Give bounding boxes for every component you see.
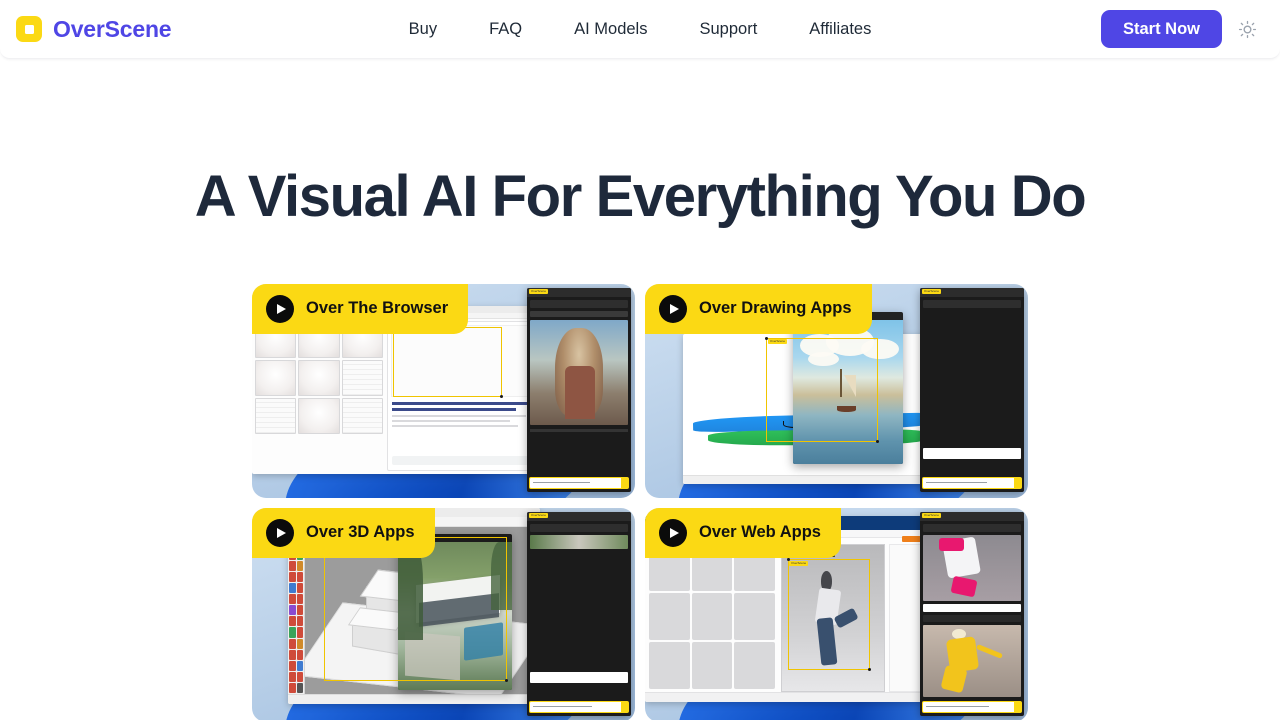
card-badge-label: Over 3D Apps [306,523,415,542]
animation-thumbnails-grid [649,544,775,689]
nav-item-buy[interactable]: Buy [383,21,463,38]
nav-item-ai-models[interactable]: AI Models [548,21,673,38]
demo-video-grid: OverScene OverScene [252,284,1028,720]
card-badge[interactable]: Over Web Apps [645,508,841,558]
sun-icon [1238,20,1257,39]
play-icon [659,295,687,323]
prompt-input[interactable] [529,701,629,713]
prompt-input[interactable] [922,701,1022,713]
nav-item-support[interactable]: Support [673,21,783,38]
generated-image [530,320,628,425]
card-badge-label: Over Web Apps [699,523,821,542]
rounded-square-logo-icon [16,16,42,42]
generated-image [923,535,1021,601]
page-title: A Visual AI For Everything You Do [0,167,1280,228]
card-badge-label: Over The Browser [306,299,448,318]
prompt-input[interactable] [922,477,1022,489]
preview-stage: OverScene [781,544,885,692]
brand-name: OverScene [53,16,171,43]
demo-card-over-the-browser[interactable]: OverScene OverScene [252,284,635,498]
image-results-grid [255,322,383,434]
site-header: OverScene Buy FAQ AI Models Support Affi… [0,0,1280,59]
play-icon [266,519,294,547]
theme-toggle-button[interactable] [1232,14,1262,44]
card-badge[interactable]: Over Drawing Apps [645,284,872,334]
overscene-panel: OverScene [527,512,631,716]
main-navigation: Buy FAQ AI Models Support Affiliates [0,21,1280,38]
demo-card-over-web-apps[interactable]: OverScene OverScene [645,508,1028,720]
start-now-button[interactable]: Start Now [1101,10,1222,49]
play-icon [266,295,294,323]
overscene-panel: OverScene [527,288,631,492]
card-badge-label: Over Drawing Apps [699,299,852,318]
overscene-panel: OverScene [920,512,1024,716]
prompt-input[interactable] [529,477,629,489]
card-badge[interactable]: Over The Browser [252,284,468,334]
image-detail-pane: OverScene [387,321,541,471]
demo-card-over-3d-apps[interactable]: OverScene OverScene Snap OverScene [252,508,635,720]
card-badge[interactable]: Over 3D Apps [252,508,435,558]
nav-item-faq[interactable]: FAQ [463,21,548,38]
nav-item-affiliates[interactable]: Affiliates [783,21,897,38]
overscene-panel: OverScene [920,288,1024,492]
generated-image [923,625,1021,697]
play-icon [659,519,687,547]
brand-logo[interactable]: OverScene [16,16,171,43]
demo-card-over-drawing-apps[interactable]: OverScene OverScene Snap OverScene [645,284,1028,498]
